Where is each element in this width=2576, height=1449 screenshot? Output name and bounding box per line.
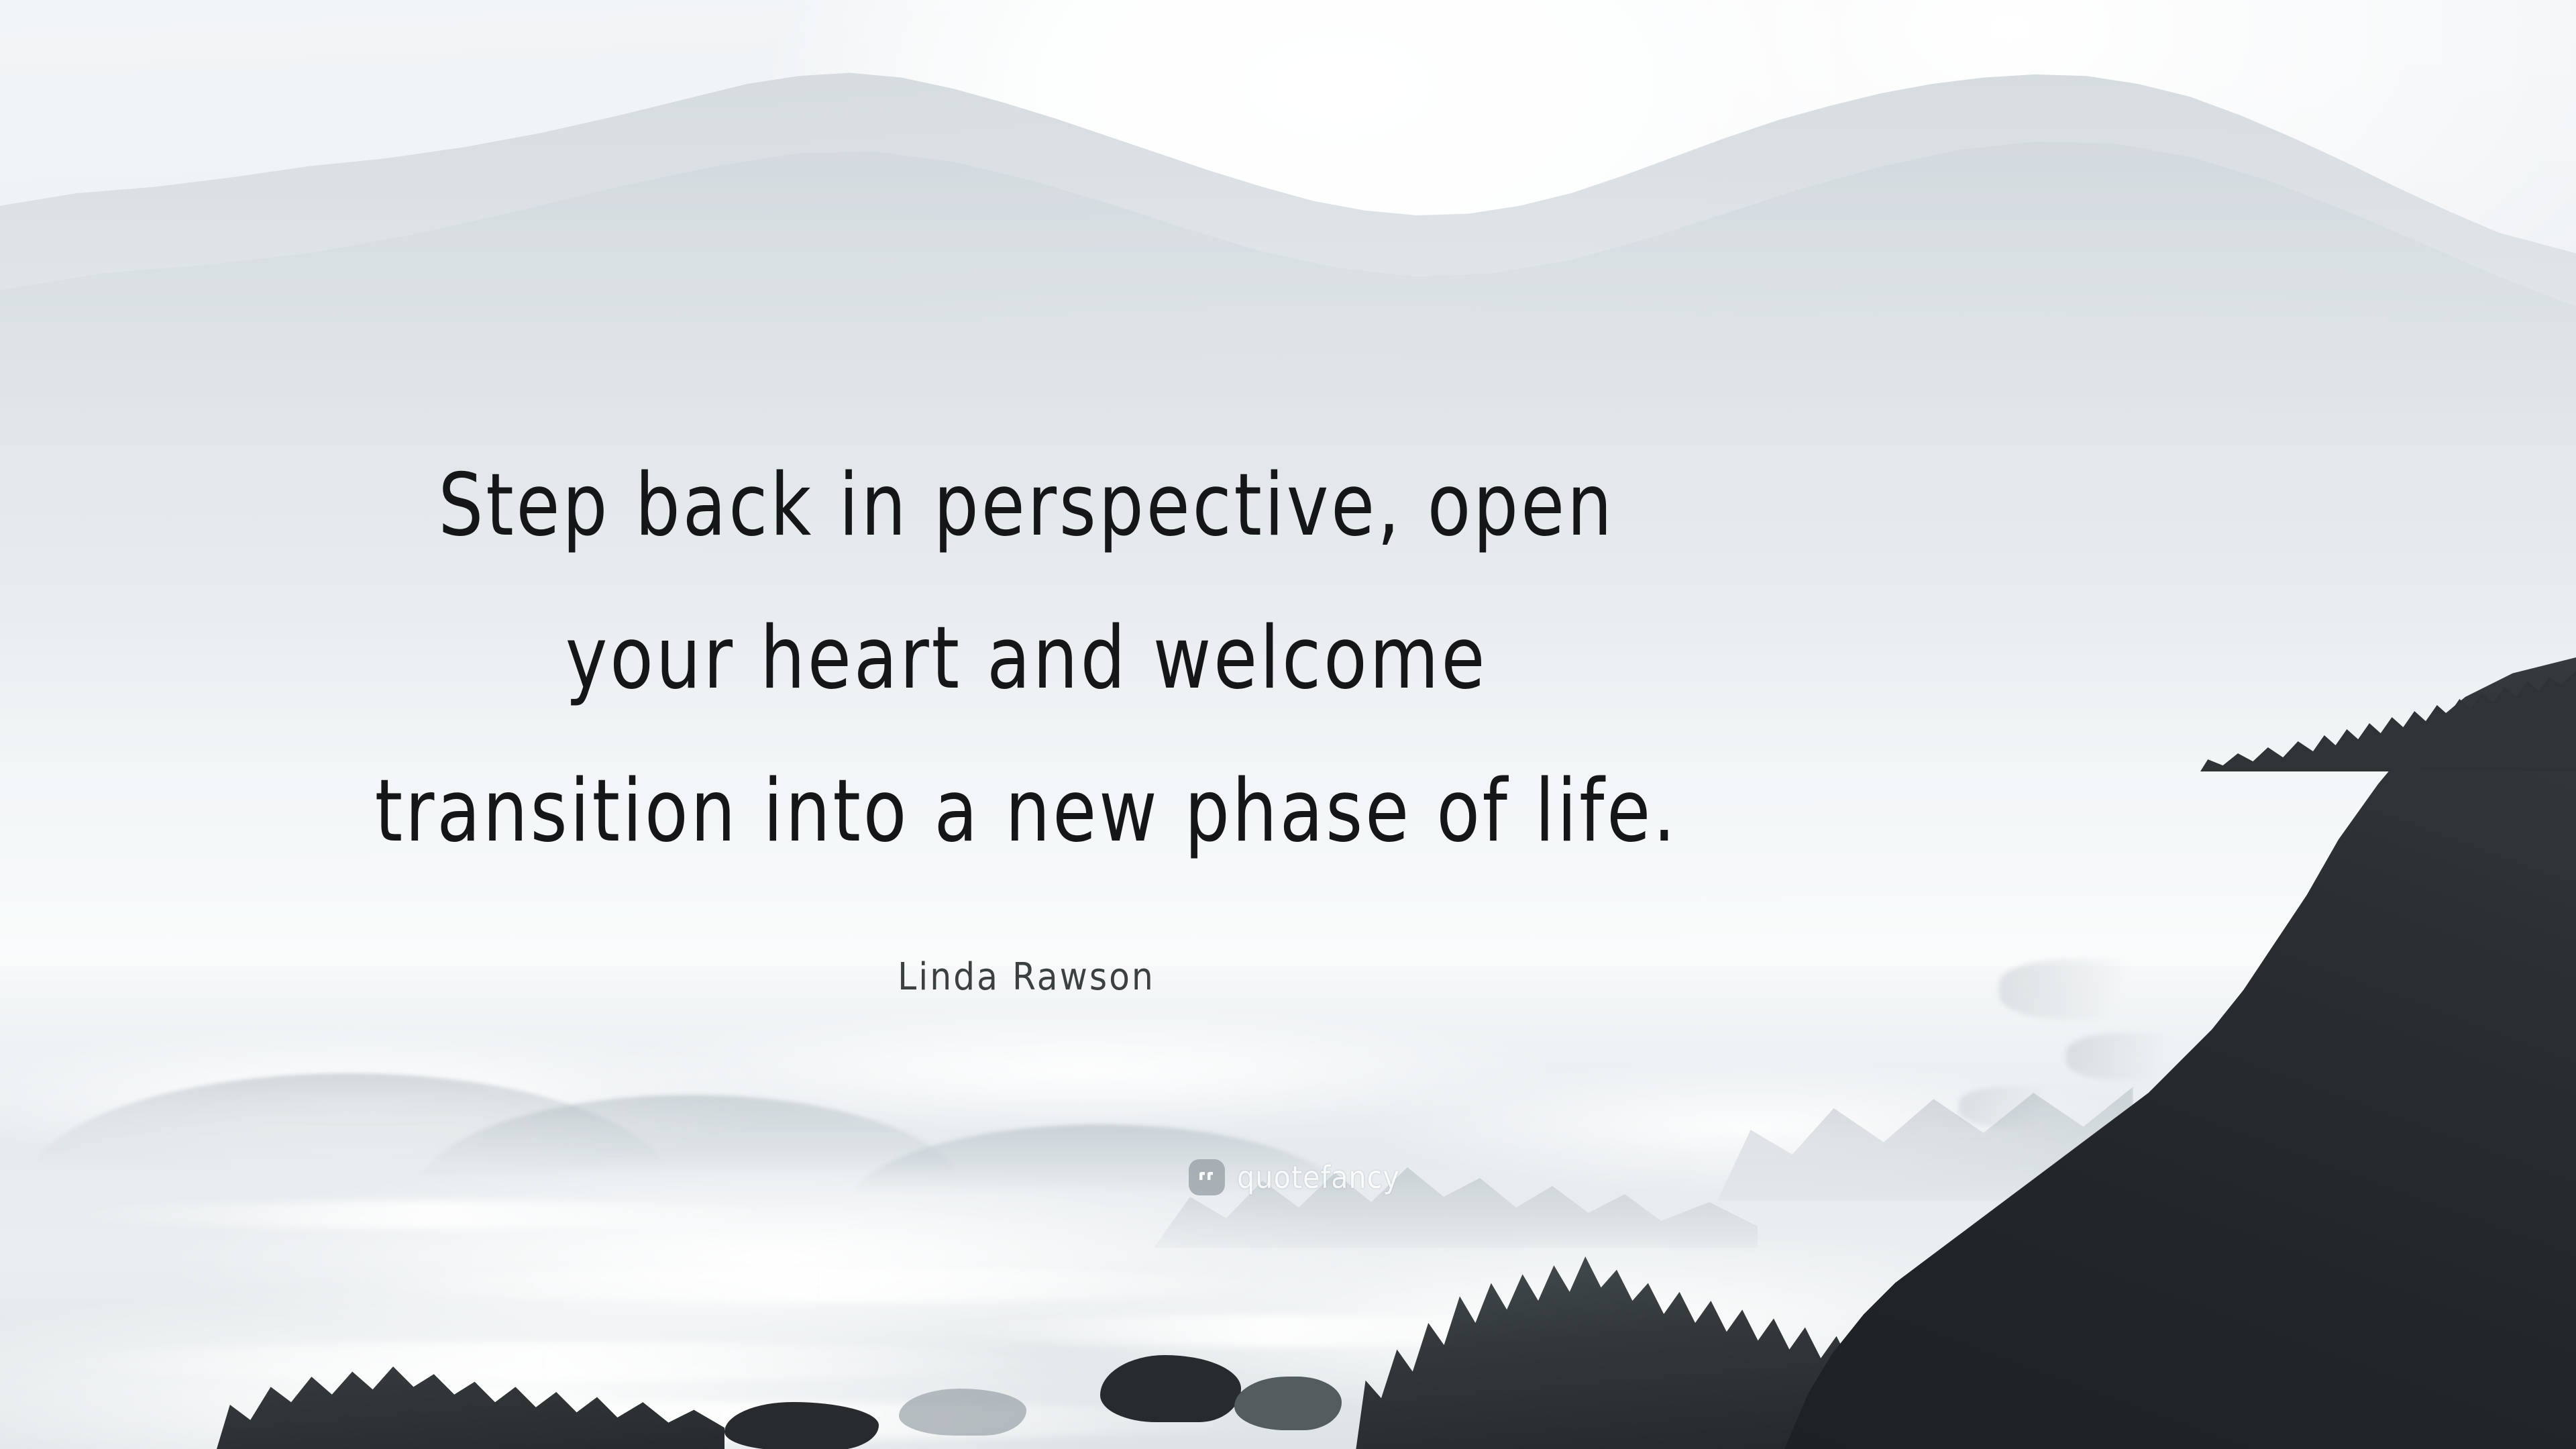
rock xyxy=(1234,1377,1342,1430)
quote-line-3: transition into a new phase of life. xyxy=(82,735,1970,888)
cliff-striation xyxy=(2066,1033,2200,1080)
rock xyxy=(1100,1355,1241,1422)
quote-author: Linda Rawson xyxy=(0,955,2053,999)
double-quote-icon xyxy=(1189,1159,1225,1195)
quotefancy-brand-label: quotefancy xyxy=(1237,1162,1400,1193)
quotefancy-watermark[interactable]: quotefancy xyxy=(1189,1159,1400,1195)
wallpaper-canvas: Step back in perspective, open your hear… xyxy=(0,0,2576,1449)
foam-streak xyxy=(67,1201,805,1229)
quote-line-1: Step back in perspective, open xyxy=(82,429,1970,582)
foam-streak xyxy=(40,1342,1046,1382)
quote-line-2: your heart and welcome xyxy=(82,582,1970,735)
foam-streak xyxy=(349,1268,1288,1303)
rock xyxy=(724,1402,879,1449)
rock xyxy=(899,1389,1026,1436)
cliff-striation xyxy=(1959,1087,2080,1127)
quote-text-block: Step back in perspective, open your hear… xyxy=(0,429,2053,888)
